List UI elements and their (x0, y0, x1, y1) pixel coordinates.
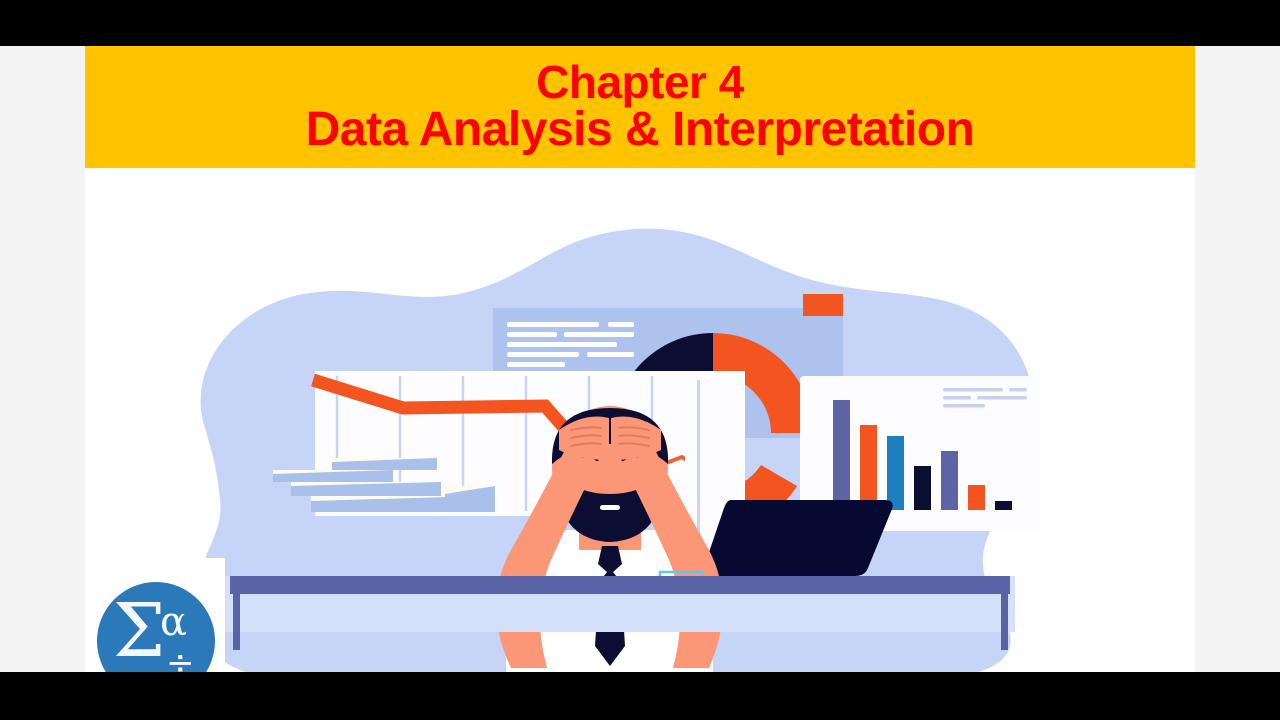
middle-white-panel-gridline (697, 380, 700, 550)
bar-3 (887, 436, 904, 510)
data-analysis-illustration (85, 168, 1195, 672)
video-frame: Chapter 4 Data Analysis & Interpretation (0, 0, 1280, 720)
title-banner: Chapter 4 Data Analysis & Interpretation (85, 46, 1195, 168)
illustration-canvas (85, 168, 1195, 672)
letterbox-bottom-bar (0, 672, 1280, 720)
bar-1 (833, 400, 850, 510)
divide-icon: ÷ (166, 646, 195, 672)
laptop-screen (703, 500, 892, 576)
bar-4 (914, 466, 931, 510)
person-mouth (600, 505, 620, 510)
page-title-line-2: Data Analysis & Interpretation (306, 106, 975, 155)
bar-6 (968, 485, 985, 510)
donut-segment-orange-right-edge-2 (803, 294, 843, 316)
desk-leg-left (233, 594, 240, 650)
sigma-icon: Σ (113, 594, 165, 668)
slide: Chapter 4 Data Analysis & Interpretation (0, 46, 1280, 672)
page-title-line-1: Chapter 4 (536, 59, 744, 106)
bar-7 (995, 501, 1012, 510)
bar-5 (941, 451, 958, 510)
desk-top (230, 576, 1010, 594)
bar-2 (860, 425, 877, 510)
letterbox-top-bar (0, 0, 1280, 46)
alpha-icon: α (160, 602, 187, 642)
desk-leg-right (1001, 594, 1008, 650)
